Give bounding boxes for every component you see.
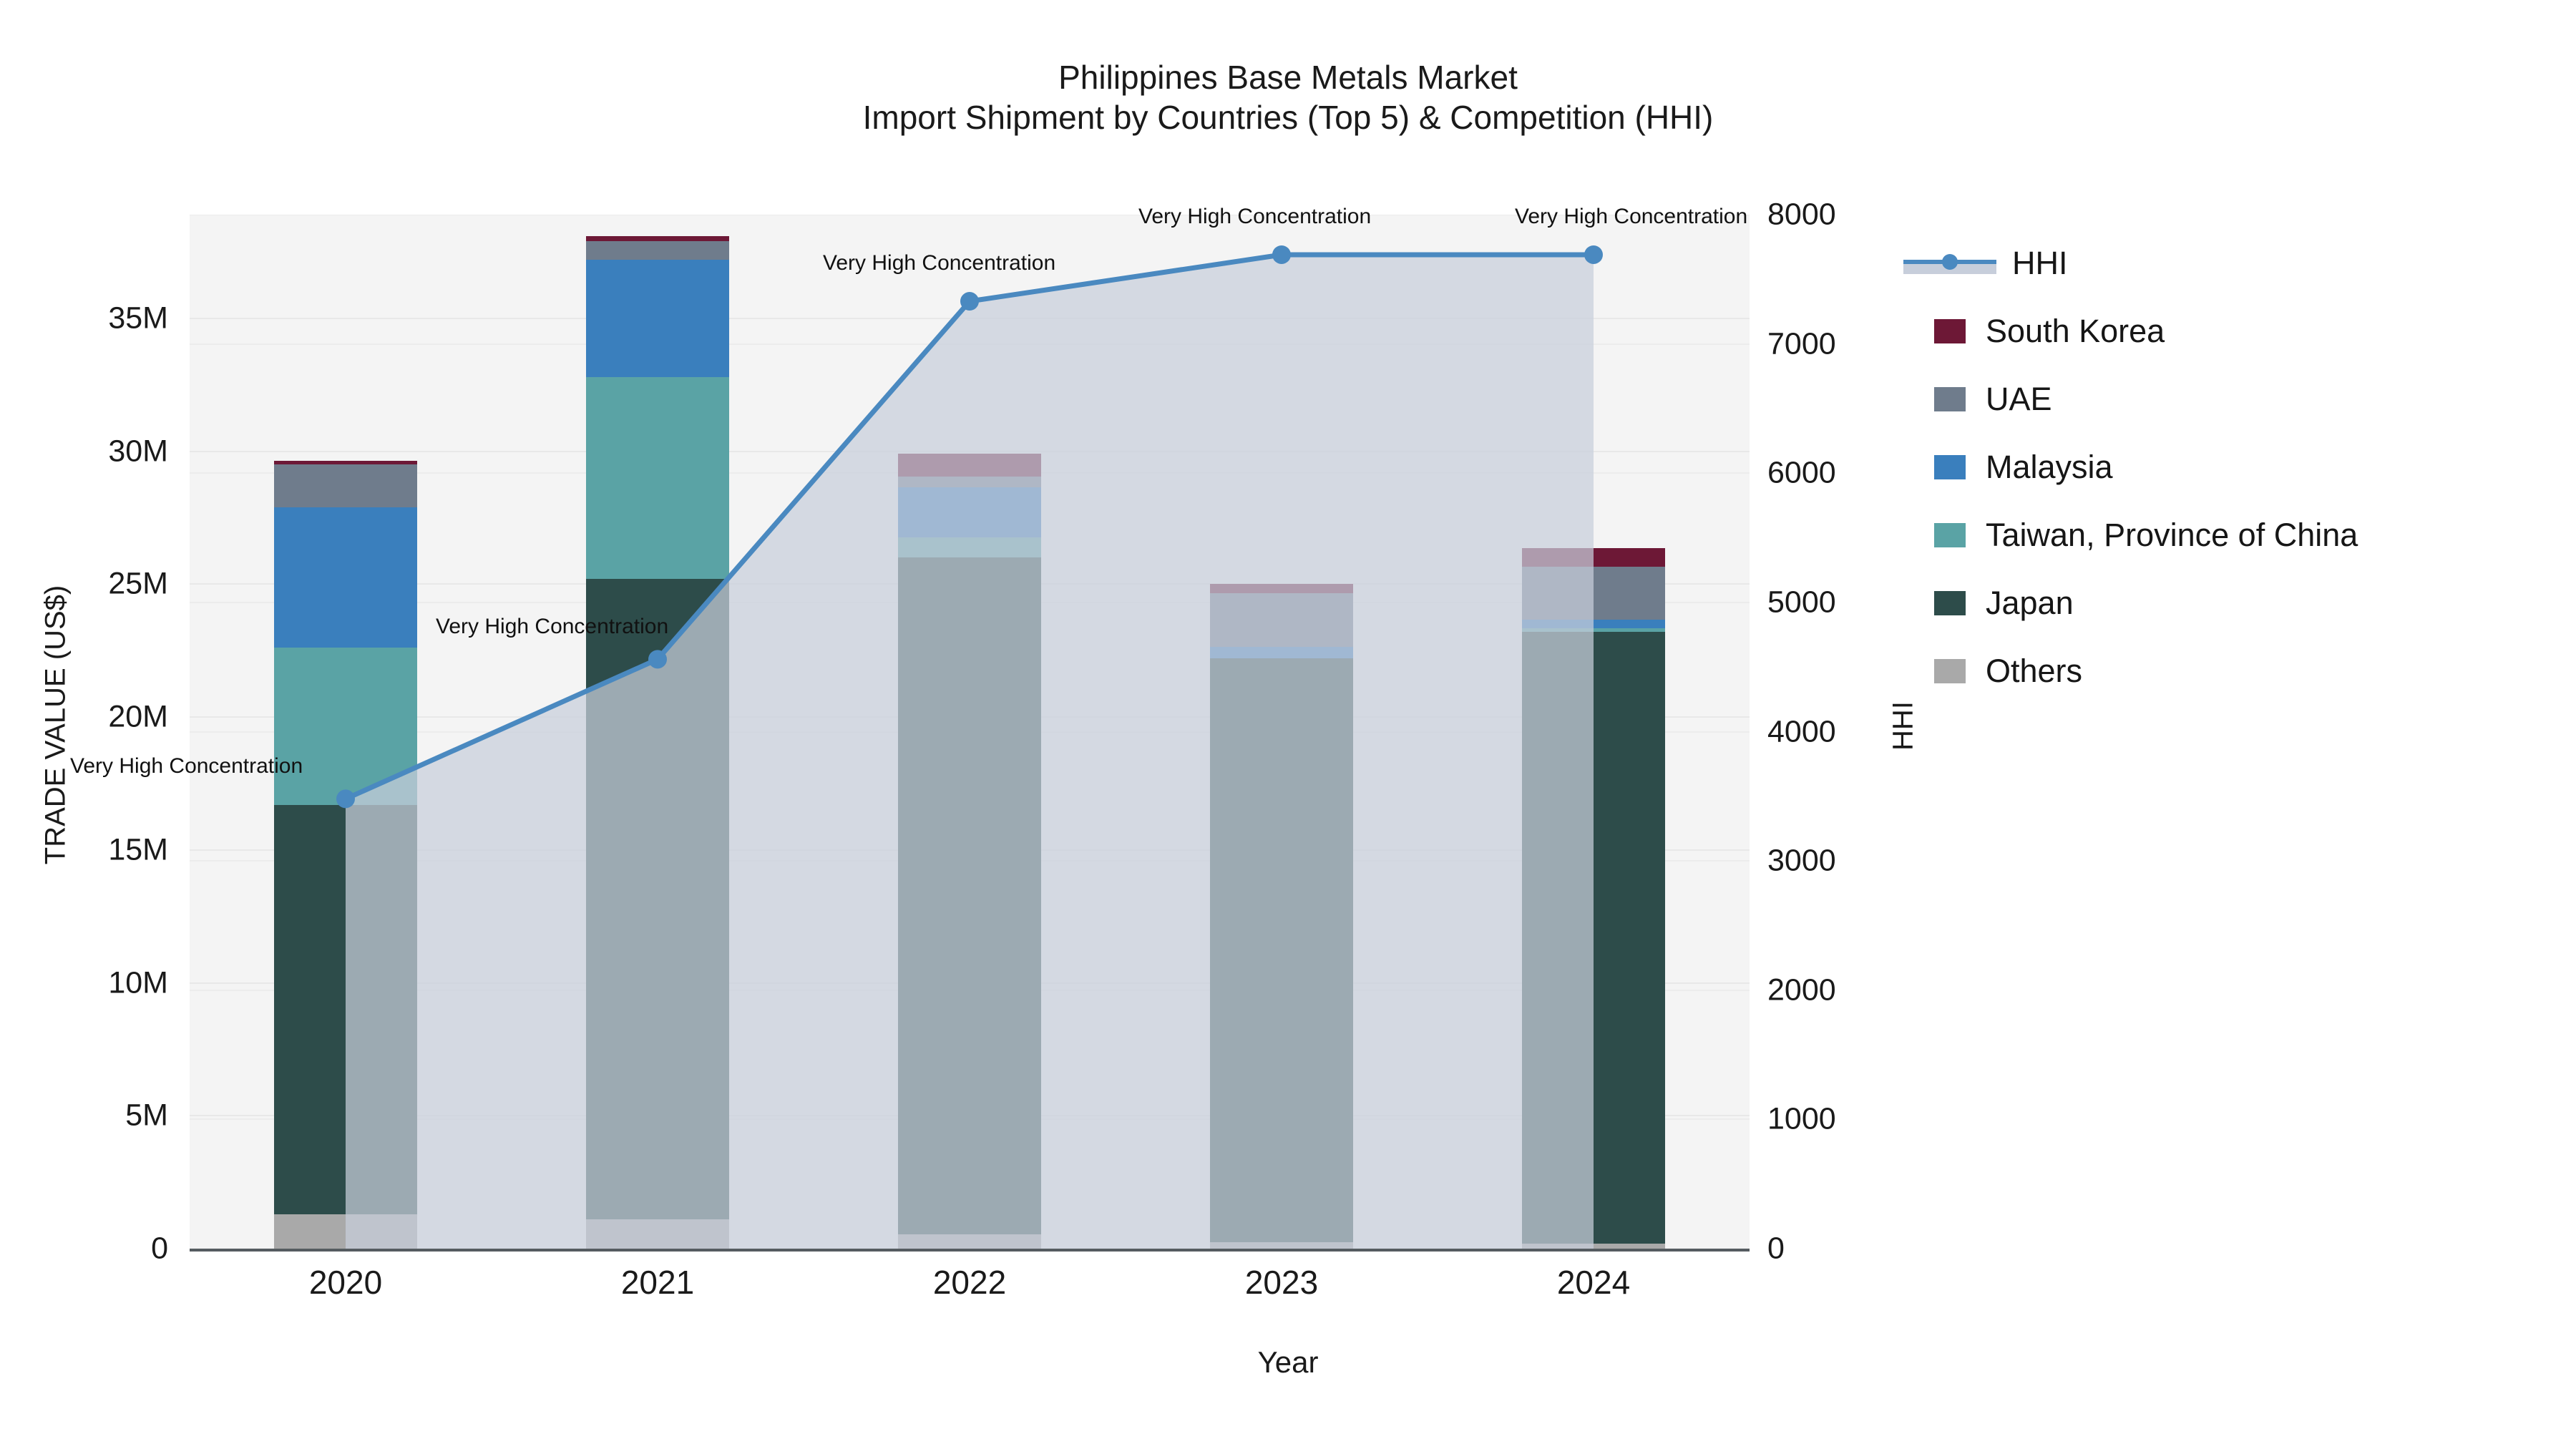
bar-segment[interactable]: [898, 537, 1041, 557]
y2-tick-label: 3000: [1767, 844, 1836, 879]
legend-item-label: Taiwan, Province of China: [1986, 517, 2358, 554]
legend-item-label: Japan: [1986, 585, 2074, 622]
legend: HHISouth KoreaUAEMalaysiaTaiwan, Provinc…: [1903, 229, 2547, 705]
bar-segment[interactable]: [586, 1219, 729, 1249]
bar-segment[interactable]: [586, 260, 729, 376]
bar-segment[interactable]: [586, 377, 729, 579]
bar-segment[interactable]: [1210, 593, 1353, 646]
y-tick-label: 5M: [11, 1098, 168, 1133]
legend-item-label: South Korea: [1986, 313, 2165, 350]
bar-segment[interactable]: [274, 507, 417, 648]
y2-tick-label: 0: [1767, 1231, 1785, 1267]
bar-stack[interactable]: [1210, 215, 1353, 1249]
y2-tick-label: 2000: [1767, 972, 1836, 1008]
chart-title-block: Philippines Base Metals Market Import Sh…: [0, 57, 2576, 137]
legend-item[interactable]: UAE: [1903, 365, 2547, 433]
legend-item[interactable]: HHI: [1903, 229, 2547, 297]
legend-item-label: UAE: [1986, 381, 2052, 418]
legend-item[interactable]: Malaysia: [1903, 433, 2547, 501]
legend-color-swatch: [1934, 659, 1966, 683]
x-axis-label: Year: [0, 1345, 2576, 1380]
y-tick-label: 10M: [11, 965, 168, 1000]
bar-stack[interactable]: [1522, 215, 1665, 1249]
bar-segment[interactable]: [898, 487, 1041, 538]
legend-color-swatch: [1934, 319, 1966, 343]
bar-segment[interactable]: [1522, 548, 1665, 567]
bar-segment[interactable]: [1210, 658, 1353, 1241]
bar-segment[interactable]: [1210, 584, 1353, 593]
legend-item-label: HHI: [2012, 245, 2068, 282]
bar-segment[interactable]: [274, 1214, 417, 1249]
bar-segment[interactable]: [1522, 632, 1665, 1243]
bar-segment[interactable]: [1522, 1244, 1665, 1249]
legend-color-swatch: [1934, 523, 1966, 547]
x-tick-label: 2020: [309, 1263, 382, 1302]
legend-color-swatch: [1934, 591, 1966, 615]
bar-segment[interactable]: [1210, 1242, 1353, 1249]
bar-segment[interactable]: [586, 579, 729, 1219]
legend-line-swatch: [1903, 251, 1996, 275]
legend-marker-dot: [1942, 254, 1958, 270]
bar-segment[interactable]: [1210, 647, 1353, 659]
x-axis-line: [190, 1249, 1750, 1252]
y-tick-label: 15M: [11, 832, 168, 867]
plot-inner: [190, 215, 1750, 1249]
bar-segment[interactable]: [274, 805, 417, 1214]
y2-tick-label: 4000: [1767, 714, 1836, 749]
bar-segment[interactable]: [586, 241, 729, 260]
legend-item[interactable]: South Korea: [1903, 297, 2547, 365]
y2-tick-label: 5000: [1767, 585, 1836, 620]
x-tick-label: 2024: [1557, 1263, 1630, 1302]
legend-item[interactable]: Others: [1903, 637, 2547, 705]
x-tick-label: 2022: [933, 1263, 1006, 1302]
bar-segment[interactable]: [1522, 628, 1665, 633]
bar-segment[interactable]: [274, 464, 417, 507]
bar-segment[interactable]: [586, 236, 729, 241]
bar-stack[interactable]: [898, 215, 1041, 1249]
chart-title: Philippines Base Metals Market: [0, 57, 2576, 97]
bar-segment[interactable]: [898, 477, 1041, 487]
bar-stack[interactable]: [274, 215, 417, 1249]
y2-tick-label: 8000: [1767, 197, 1836, 233]
legend-item-label: Malaysia: [1986, 449, 2113, 486]
y-tick-label: 0: [11, 1231, 168, 1267]
legend-item[interactable]: Japan: [1903, 569, 2547, 637]
legend-color-swatch: [1934, 455, 1966, 479]
y2-tick-label: 1000: [1767, 1102, 1836, 1137]
bar-stack[interactable]: [586, 215, 729, 1249]
bar-segment[interactable]: [898, 557, 1041, 1234]
bar-segment[interactable]: [274, 461, 417, 465]
y-tick-label: 35M: [11, 301, 168, 336]
bar-segment[interactable]: [1522, 620, 1665, 628]
bar-segment[interactable]: [274, 648, 417, 804]
legend-item[interactable]: Taiwan, Province of China: [1903, 501, 2547, 569]
legend-item-label: Others: [1986, 653, 2082, 690]
plot-area: Very High ConcentrationVery High Concent…: [190, 215, 1750, 1249]
bar-segment[interactable]: [1522, 567, 1665, 620]
chart-subtitle: Import Shipment by Countries (Top 5) & C…: [0, 97, 2576, 137]
x-tick-label: 2023: [1245, 1263, 1318, 1302]
y2-tick-label: 7000: [1767, 326, 1836, 361]
y2-tick-label: 6000: [1767, 456, 1836, 491]
y-tick-label: 25M: [11, 567, 168, 602]
chart-canvas: Philippines Base Metals Market Import Sh…: [0, 0, 2576, 1449]
y-tick-label: 30M: [11, 434, 168, 469]
y-tick-label: 20M: [11, 700, 168, 735]
bar-segment[interactable]: [898, 454, 1041, 477]
legend-color-swatch: [1934, 387, 1966, 411]
x-tick-label: 2021: [621, 1263, 694, 1302]
bar-segment[interactable]: [898, 1234, 1041, 1249]
